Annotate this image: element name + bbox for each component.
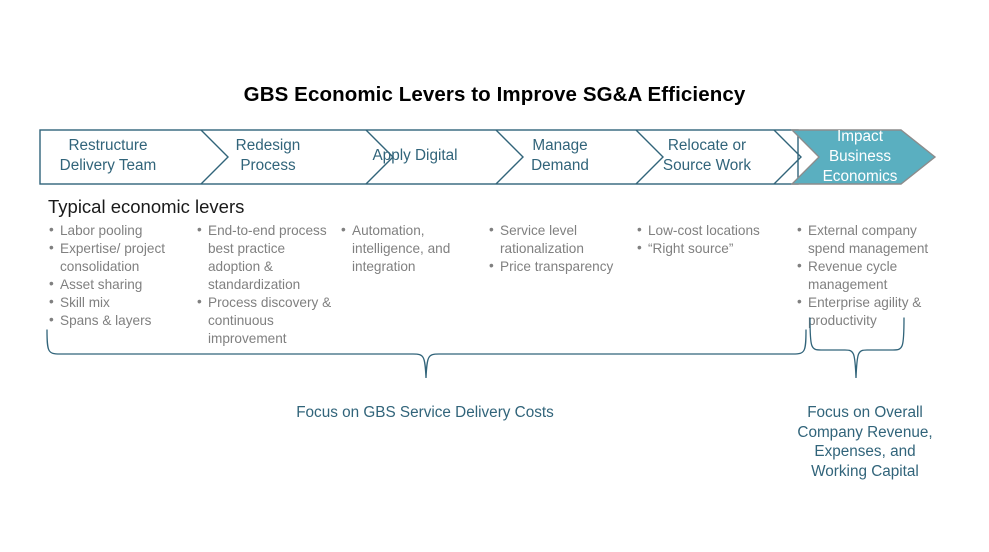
lever-bullet: •Labor pooling xyxy=(49,222,191,240)
bullet-dot-icon: • xyxy=(197,221,202,239)
lever-bullet-text: Service level rationalization xyxy=(500,223,584,256)
bullet-dot-icon: • xyxy=(49,221,54,239)
bullet-dot-icon: • xyxy=(49,311,54,329)
chevron-label-restructure-delivery-team[interactable]: Restructure Delivery Team xyxy=(40,136,176,176)
lever-bullet: •Expertise/ project consolidation xyxy=(49,240,191,276)
chevron-label-impact-business-economics[interactable]: Impact Business Economics xyxy=(800,127,920,187)
lever-bullet: •“Right source” xyxy=(637,240,787,258)
lever-bullet: •Skill mix xyxy=(49,294,191,312)
lever-bullet-text: External company spend management xyxy=(808,223,928,256)
lever-bullet: •Low-cost locations xyxy=(637,222,787,240)
lever-bullet: •Spans & layers xyxy=(49,312,191,330)
bullet-dot-icon: • xyxy=(489,257,494,275)
lever-column-redesign-process: •End-to-end process best practice adopti… xyxy=(197,222,339,348)
lever-bullet-text: Low-cost locations xyxy=(648,223,760,238)
lever-bullet: •Asset sharing xyxy=(49,276,191,294)
lever-bullet: •Price transparency xyxy=(489,258,629,276)
bullet-dot-icon: • xyxy=(637,221,642,239)
chevron-label-relocate-or-source-work[interactable]: Relocate or Source Work xyxy=(637,136,777,176)
bullet-dot-icon: • xyxy=(797,293,802,311)
lever-bullet-text: Expertise/ project consolidation xyxy=(60,241,165,274)
caption-gbs-service-delivery-costs: Focus on GBS Service Delivery Costs xyxy=(230,403,620,423)
bullet-dot-icon: • xyxy=(637,239,642,257)
chevron-label-apply-digital[interactable]: Apply Digital xyxy=(345,146,485,166)
lever-bullet: •Automation, intelligence, and integrati… xyxy=(341,222,483,276)
lever-bullet: •Process discovery & continuous improvem… xyxy=(197,294,339,348)
lever-bullet: •Enterprise agility & productivity xyxy=(797,294,937,330)
bullet-dot-icon: • xyxy=(797,257,802,275)
page-title: GBS Economic Levers to Improve SG&A Effi… xyxy=(0,83,989,107)
slide-canvas: GBS Economic Levers to Improve SG&A Effi… xyxy=(0,0,989,552)
lever-bullet: •Service level rationalization xyxy=(489,222,629,258)
lever-column-relocate-or-source-work: •Low-cost locations•“Right source” xyxy=(637,222,787,258)
lever-bullet: •Revenue cycle management xyxy=(797,258,937,294)
lever-bullet-text: Labor pooling xyxy=(60,223,142,238)
brace-gbs-service-delivery-costs xyxy=(47,330,806,378)
bullet-dot-icon: • xyxy=(341,221,346,239)
section-heading-typical-economic-levers: Typical economic levers xyxy=(48,196,244,218)
chevron-label-redesign-process[interactable]: Redesign Process xyxy=(200,136,336,176)
lever-bullet-text: “Right source” xyxy=(648,241,733,256)
lever-bullet-text: End-to-end process best practice adoptio… xyxy=(208,223,327,292)
lever-column-impact-business-economics: •External company spend management•Reven… xyxy=(797,222,937,330)
lever-bullet: •External company spend management xyxy=(797,222,937,258)
lever-bullet-text: Automation, intelligence, and integratio… xyxy=(352,223,450,274)
bullet-dot-icon: • xyxy=(797,221,802,239)
bullet-dot-icon: • xyxy=(489,221,494,239)
bullet-dot-icon: • xyxy=(197,293,202,311)
bullet-dot-icon: • xyxy=(49,239,54,257)
bullet-dot-icon: • xyxy=(49,275,54,293)
lever-bullet-text: Enterprise agility & productivity xyxy=(808,295,921,328)
lever-bullet-text: Asset sharing xyxy=(60,277,142,292)
chevron-label-manage-demand[interactable]: Manage Demand xyxy=(492,136,628,176)
lever-column-manage-demand: •Service level rationalization•Price tra… xyxy=(489,222,629,276)
lever-bullet-text: Price transparency xyxy=(500,259,613,274)
lever-column-restructure-delivery-team: •Labor pooling•Expertise/ project consol… xyxy=(49,222,191,330)
lever-column-apply-digital: •Automation, intelligence, and integrati… xyxy=(341,222,483,276)
lever-bullet: •End-to-end process best practice adopti… xyxy=(197,222,339,294)
lever-bullet-text: Revenue cycle management xyxy=(808,259,897,292)
bullet-dot-icon: • xyxy=(49,293,54,311)
lever-bullet-text: Spans & layers xyxy=(60,313,151,328)
caption-overall-company-economics: Focus on Overall Company Revenue, Expens… xyxy=(786,403,944,481)
lever-bullet-text: Process discovery & continuous improveme… xyxy=(208,295,331,346)
lever-bullet-text: Skill mix xyxy=(60,295,110,310)
